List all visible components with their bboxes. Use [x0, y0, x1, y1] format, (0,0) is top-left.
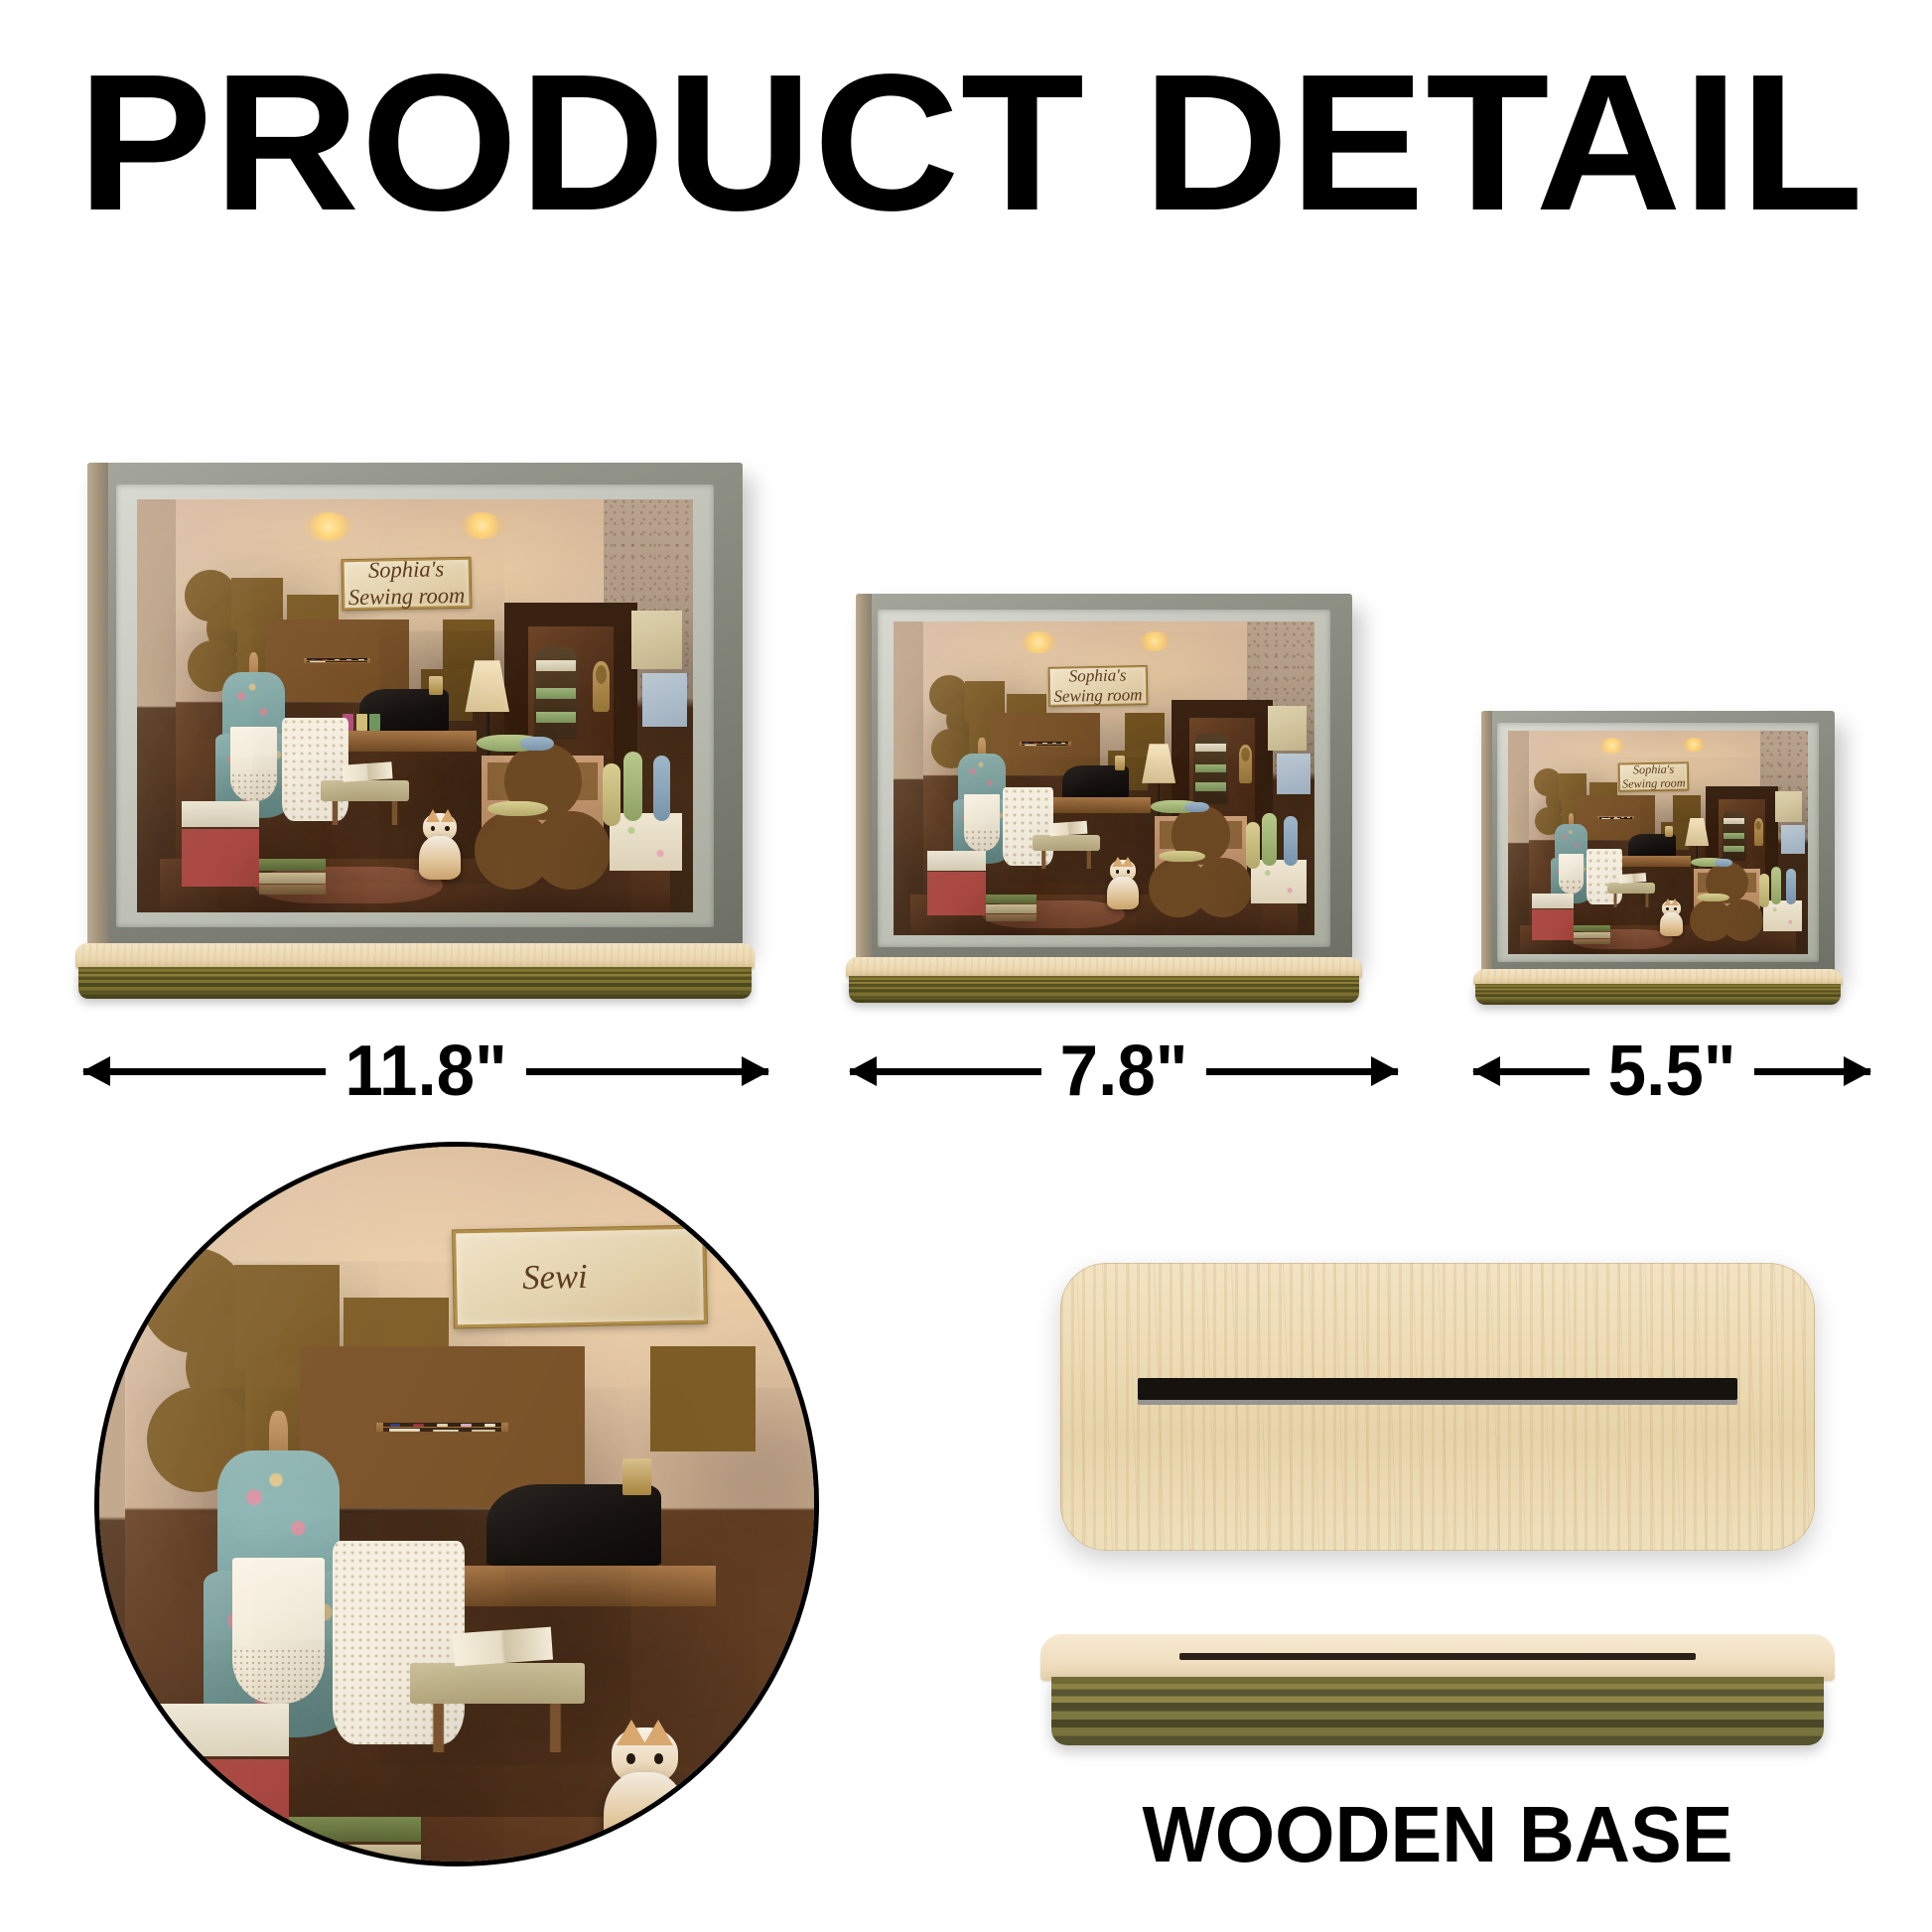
stand-plywood-edge	[78, 967, 751, 999]
book	[986, 914, 1036, 921]
book	[1574, 925, 1609, 932]
upholstered-bench	[1033, 835, 1100, 851]
wardrobe-shelf	[536, 712, 576, 723]
ceiling-light-icon	[460, 512, 504, 539]
book	[1574, 939, 1609, 944]
storage-box	[136, 1759, 289, 1862]
sewing-table	[1613, 856, 1691, 867]
book	[259, 873, 326, 884]
thread-spool	[356, 714, 367, 731]
dimension-label-medium: 7.8"	[1060, 1035, 1188, 1107]
fabric-roll-basket	[610, 813, 682, 871]
fabric-swatch	[1268, 706, 1306, 750]
shadowbox-frame-closeup: Sewi	[99, 1147, 814, 1862]
wall-clock	[1754, 818, 1763, 846]
cat-ear	[426, 809, 440, 822]
fabric-swatch	[1781, 825, 1805, 854]
lace-apron	[232, 1558, 325, 1705]
thread-spool	[484, 1424, 495, 1427]
fabric-swatch	[631, 611, 681, 668]
fabric-box	[1613, 818, 1620, 819]
shelf-row-boxes	[1599, 818, 1632, 819]
shelf-row-boxes	[383, 1428, 501, 1431]
bench-legs	[420, 1704, 574, 1752]
stand-plywood-edge	[1475, 984, 1841, 1005]
storage-box-stack	[182, 801, 259, 876]
fabric-box	[472, 1430, 495, 1431]
wardrobe-glass-door	[1193, 734, 1227, 804]
book	[986, 904, 1036, 913]
shadowbox-frame-medium: Sophia's Sewing room	[856, 594, 1352, 963]
product-image-small[interactable]: Sophia's Sewing room	[1481, 711, 1835, 974]
base-side-view	[1040, 1634, 1835, 1745]
wooden-stand-large	[75, 943, 755, 999]
cat-figurine	[1104, 860, 1142, 909]
wardrobe-shelf	[1724, 846, 1744, 852]
cat-ear	[441, 809, 455, 822]
storage-box	[927, 872, 986, 915]
bench-legs	[1610, 894, 1653, 906]
dress-mannequin	[202, 1411, 354, 1744]
fabric-box	[1025, 745, 1036, 746]
sewing-table	[332, 731, 477, 752]
close-up-detail-circle[interactable]: Sewi	[94, 1142, 819, 1866]
cat-body	[1107, 877, 1139, 909]
fabric-roll	[1159, 851, 1205, 862]
fabric-roll	[603, 763, 621, 825]
fabric-roll-basket	[1763, 900, 1802, 931]
dimension-arrow-left-icon	[1473, 1068, 1589, 1075]
storage-box-stack	[136, 1704, 289, 1850]
dimension-medium: 7.8"	[850, 1027, 1398, 1116]
wall-clock	[593, 661, 610, 712]
wardrobe-shelf	[1195, 782, 1225, 790]
base-top-view	[1060, 1263, 1815, 1551]
base-slot	[1138, 1378, 1737, 1405]
lace-apron	[1559, 854, 1584, 895]
wardrobe-shelf	[1195, 764, 1225, 772]
cat-eye	[626, 1753, 635, 1764]
drawer	[1728, 910, 1757, 930]
sewing-room-scene: Sophia's Sewing room	[137, 499, 693, 912]
open-book	[1618, 873, 1646, 884]
book	[259, 859, 326, 872]
dimension-small: 5.5"	[1473, 1027, 1870, 1116]
cat-ear	[1671, 898, 1679, 905]
lamp-shade	[1142, 744, 1175, 783]
thread-spool	[369, 714, 380, 731]
open-book	[453, 1627, 553, 1667]
shop-sign-partial: Sewi	[453, 1226, 706, 1328]
fabric-roll	[520, 737, 554, 751]
fabric-roll	[653, 756, 671, 821]
storage-box	[927, 851, 986, 871]
book	[289, 1817, 420, 1842]
diorama-window-closeup: Sewi	[99, 1147, 814, 1862]
fabric-roll	[1262, 813, 1276, 867]
wardrobe-shelf	[536, 688, 576, 699]
sewing-machine	[486, 1484, 661, 1566]
book-pile	[289, 1817, 420, 1862]
wardrobe-glass-door	[1723, 811, 1746, 861]
drawer	[487, 762, 598, 800]
book-pile	[259, 859, 326, 892]
ceiling-light-icon	[304, 512, 353, 541]
fabric-swatch	[1775, 791, 1802, 822]
cat-figurine	[1658, 900, 1685, 936]
dimension-large: 11.8"	[83, 1027, 768, 1116]
wardrobe-shelf	[1195, 744, 1225, 752]
book	[1574, 932, 1609, 938]
cat-ear	[1122, 857, 1134, 867]
wooden-base-caption: WOODEN BASE	[1052, 1793, 1823, 1876]
sign-line-2: Sewing room	[348, 583, 466, 612]
diorama-window-medium: Sophia's Sewing room	[894, 621, 1314, 934]
dimension-arrow-right-icon	[1754, 1068, 1870, 1075]
storage-box-stack	[927, 851, 986, 907]
sewing-machine	[1062, 765, 1130, 797]
cat-eye	[1127, 870, 1131, 874]
lace-apron	[230, 727, 277, 801]
fabric-box	[1056, 746, 1065, 747]
book-pile	[986, 895, 1036, 919]
base-side-plywood-edge	[1051, 1677, 1824, 1745]
wooden-stand-medium	[846, 957, 1362, 1003]
cat-figurine	[415, 813, 465, 879]
ceiling-light-icon	[1020, 631, 1057, 653]
shop-sign: Sophia's Sewing room	[343, 558, 472, 610]
drawer	[487, 832, 539, 870]
page-title: PRODUCT DETAIL	[77, 44, 1932, 242]
drawer	[1160, 821, 1243, 849]
thread-spool	[390, 1424, 401, 1427]
sign-line-1: Sophia's	[368, 557, 445, 585]
lace-apron	[964, 794, 1000, 851]
bench-legs	[1036, 851, 1096, 870]
fabric-box	[389, 1429, 420, 1431]
fabric-box	[310, 661, 326, 662]
dimension-arrow-left-icon	[850, 1068, 1041, 1075]
fabric-roll	[487, 801, 549, 816]
product-image-medium[interactable]: Sophia's Sewing room	[856, 594, 1352, 963]
fabric-roll	[623, 752, 642, 822]
dimension-label-small: 5.5"	[1608, 1035, 1736, 1107]
shadowbox-frame-large: Sophia's Sewing room	[87, 463, 743, 949]
wardrobe-shelf	[536, 660, 576, 671]
fabric-swatch	[1277, 754, 1311, 794]
storage-box	[182, 829, 259, 887]
sewing-room-scene: Sophia's Sewing room	[1508, 731, 1808, 954]
fabric-box	[433, 1430, 459, 1432]
storage-box	[1532, 909, 1574, 940]
drawer	[1160, 874, 1198, 901]
drawer	[1698, 873, 1757, 893]
sign-line-2: Sewing room	[1053, 685, 1143, 707]
shop-sign: Sophia's Sewing room	[1618, 762, 1688, 790]
book	[259, 885, 326, 894]
wardrobe-glass-door	[534, 647, 579, 740]
wall-picture-frame	[650, 1346, 756, 1451]
drawer	[545, 832, 598, 870]
close-up-viewport: Sewi	[99, 1147, 814, 1862]
fabric-box	[1601, 818, 1610, 819]
thread-spool	[437, 1424, 448, 1427]
stand-top-surface	[75, 943, 755, 969]
book-pile	[1574, 925, 1609, 943]
storage-box	[136, 1704, 289, 1756]
thread-spool	[461, 1424, 472, 1427]
shelf-row-spools	[383, 1423, 501, 1427]
stand-top-surface	[1473, 969, 1843, 986]
product-image-large[interactable]: Sophia's Sewing room	[87, 463, 743, 949]
fabric-box	[1041, 746, 1051, 747]
upholstered-bench	[1607, 883, 1655, 894]
fabric-roll	[1715, 859, 1732, 867]
drawer	[1202, 874, 1242, 901]
fabric-box	[333, 662, 345, 663]
fabric-swatch	[642, 673, 687, 727]
fabric-roll-basket	[1251, 860, 1306, 903]
storage-box	[1532, 894, 1574, 908]
cat-eye	[445, 826, 450, 832]
close-up-diorama: Sewi	[99, 1147, 814, 1862]
sewing-table	[432, 1566, 717, 1606]
shadowbox-frame-small: Sophia's Sewing room	[1481, 711, 1835, 974]
lamp-shade	[465, 660, 509, 712]
shelf-row-boxes	[1022, 745, 1068, 747]
cat-eye	[1666, 907, 1669, 910]
cat-eye	[1116, 870, 1120, 874]
ceiling-light-icon	[1598, 738, 1625, 754]
shelf-row-boxes	[307, 661, 367, 663]
dimension-arrow-right-icon	[526, 1068, 768, 1075]
sewing-machine	[1628, 834, 1676, 856]
fabric-roll	[1246, 822, 1260, 869]
wooden-stand-small	[1473, 969, 1843, 1005]
wardrobe-shelf	[1724, 833, 1744, 839]
sign-line-1: Sophia's	[1633, 761, 1674, 776]
shop-sign: Sophia's Sewing room	[1049, 666, 1147, 706]
stand-top-surface	[846, 957, 1362, 978]
sign-line-1: Sophia's	[1068, 665, 1126, 686]
cat-eye	[431, 826, 436, 832]
dimension-arrow-right-icon	[1206, 1068, 1398, 1075]
sewing-table	[1040, 797, 1150, 813]
fabric-box	[352, 662, 364, 663]
fabric-roll	[1284, 816, 1298, 866]
lamp-shade	[1685, 818, 1709, 846]
dimension-arrow-left-icon	[83, 1068, 326, 1075]
fabric-roll	[1771, 867, 1781, 904]
bench-legs	[326, 801, 404, 826]
thread-spool	[413, 1424, 424, 1427]
diorama-window-small: Sophia's Sewing room	[1508, 731, 1808, 954]
upholstered-bench	[410, 1663, 585, 1704]
sewing-room-scene: Sophia's Sewing room	[894, 621, 1314, 934]
stand-plywood-edge	[849, 976, 1360, 1003]
sign-line-2: Sewing room	[1622, 776, 1686, 792]
book	[986, 895, 1036, 904]
book	[289, 1845, 420, 1862]
fabric-roll	[1786, 869, 1796, 904]
cat-figurine	[596, 1727, 694, 1858]
product-detail-page: PRODUCT DETAIL	[0, 0, 1932, 1932]
sign-partial-text: Sewi	[521, 1256, 587, 1298]
cat-body	[604, 1772, 686, 1858]
fabric-roll	[1759, 874, 1769, 907]
diorama-window-large: Sophia's Sewing room	[137, 499, 693, 912]
base-side-slot	[1179, 1653, 1696, 1660]
ceiling-light-icon	[1138, 631, 1172, 652]
cat-eye	[1674, 907, 1677, 910]
fabric-roll	[1184, 802, 1209, 813]
dimension-label-large: 11.8"	[345, 1035, 506, 1107]
storage-box	[182, 801, 259, 828]
cat-ear	[617, 1720, 646, 1745]
upholstered-bench	[321, 780, 410, 801]
wardrobe-shelf	[1724, 818, 1744, 824]
cat-ear	[643, 1720, 673, 1745]
cat-body	[419, 836, 461, 880]
cat-eye	[654, 1753, 663, 1764]
sewing-room-scene: Sewi	[99, 1147, 814, 1862]
wall-clock	[1239, 745, 1252, 783]
cat-body	[1660, 912, 1683, 936]
storage-box-stack	[1532, 894, 1574, 933]
